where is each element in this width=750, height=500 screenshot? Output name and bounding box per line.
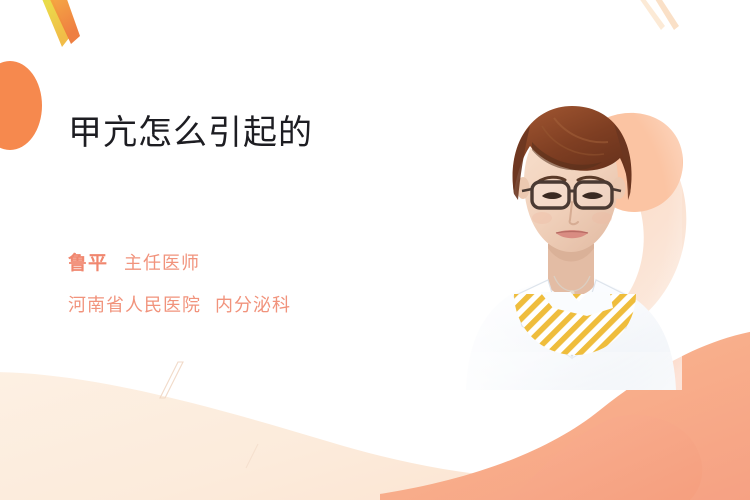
diagonal-stripe-orange-thick [38, 0, 80, 44]
diagonal-stripe-faint-a [632, 0, 665, 30]
top-left-stripes [35, 0, 80, 47]
yellow-striped-circle [513, 292, 637, 368]
doctor-department: 内分泌科 [215, 291, 291, 317]
top-right-stripes [632, 0, 679, 30]
doctor-hospital: 河南省人民医院 [68, 291, 201, 317]
doctor-info-block: 鲁平 主任医师 河南省人民医院 内分泌科 [68, 248, 498, 317]
salmon-wave-lobe [500, 415, 702, 500]
doctor-name-row: 鲁平 主任医师 [68, 248, 498, 275]
orange-circle-decor [0, 61, 42, 150]
video-cover-card: 甲亢怎么引起的 鲁平 主任医师 河南省人民医院 内分泌科 [0, 0, 750, 500]
peach-wave-bottom [0, 372, 750, 500]
title-block: 甲亢怎么引起的 [68, 112, 498, 155]
diagonal-stripe-yellow-thin [35, 0, 69, 47]
diagonal-stripe-faint-b [647, 0, 679, 30]
page-title: 甲亢怎么引起的 [68, 112, 498, 155]
doctor-affiliation-row: 河南省人民医院 内分泌科 [68, 291, 498, 317]
doctor-name: 鲁平 [68, 248, 108, 275]
thin-diagonal-line-b [246, 444, 258, 468]
doctor-rank: 主任医师 [124, 249, 200, 275]
thin-diagonal-line [160, 362, 183, 398]
